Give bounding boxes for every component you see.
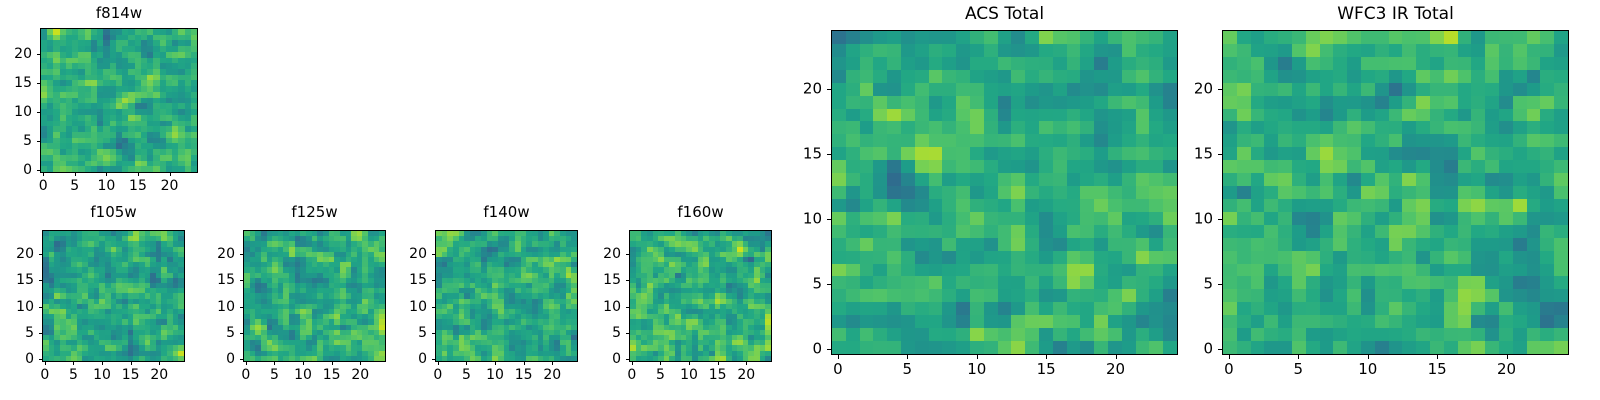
heatmap-cell [1278,134,1292,147]
heatmap-cell [1540,341,1554,354]
heatmap-cell [1513,31,1527,44]
heatmap-cell [1416,147,1430,160]
heatmap-cell [1458,96,1472,109]
heatmap-cell [1347,83,1361,96]
heatmap-cell [1430,109,1444,122]
heatmap-cell [1527,276,1541,289]
ytick-mark [1218,349,1222,350]
heatmap-cell [1306,251,1320,264]
heatmap-cell [1416,186,1430,199]
heatmap-cell [1416,121,1430,134]
xtick-label: 10 [1358,362,1377,377]
heatmap-cell [1278,276,1292,289]
heatmap-cell [1389,186,1403,199]
heatmap-cell [1416,160,1430,173]
heatmap-cell [1540,57,1554,70]
heatmap-cell [1458,44,1472,57]
heatmap-cell [1389,31,1403,44]
heatmap-cell [1527,341,1541,354]
heatmap-cell [1527,31,1541,44]
heatmap-cell [1264,315,1278,328]
heatmap-cell [1416,57,1430,70]
heatmap-cell [1444,147,1458,160]
heatmap-cell [1278,109,1292,122]
heatmap-cell [1320,238,1334,251]
heatmap-cell [1513,134,1527,147]
heatmap-cell [1471,238,1485,251]
heatmap-cell [1264,302,1278,315]
heatmap-cell [1485,44,1499,57]
heatmap-cell [1361,160,1375,173]
heatmap-cell [1471,264,1485,277]
heatmap-cell [1264,70,1278,83]
heatmap-cell [1471,212,1485,225]
heatmap-cell [1361,96,1375,109]
heatmap-cell [1389,212,1403,225]
heatmap-cell [1513,96,1527,109]
heatmap-cell [1320,173,1334,186]
heatmap-cell [1540,212,1554,225]
heatmap-cell [1471,160,1485,173]
heatmap-cell [1361,276,1375,289]
heatmap-cell [1361,199,1375,212]
heatmap-cell [1540,121,1554,134]
heatmap-cell [1347,276,1361,289]
heatmap-cell [1375,44,1389,57]
heatmap-cell [1499,328,1513,341]
heatmap-cell [1333,289,1347,302]
heatmap-cell [1278,264,1292,277]
heatmap-cell [1389,96,1403,109]
heatmap-cell [1223,109,1237,122]
heatmap-cell [1513,251,1527,264]
heatmap-cell [1375,70,1389,83]
heatmap-cell [1389,328,1403,341]
heatmap-cell [1471,57,1485,70]
heatmap-cell [1333,302,1347,315]
heatmap-cell [1237,225,1251,238]
heatmap-cell [1375,199,1389,212]
heatmap-cell [1347,186,1361,199]
heatmap-cell [1554,31,1568,44]
heatmap-cell [1292,289,1306,302]
heatmap-cell [1513,264,1527,277]
heatmap-cell [1430,289,1444,302]
heatmap-cell [1320,225,1334,238]
heatmap-cell [1416,225,1430,238]
heatmap-cell [1402,341,1416,354]
heatmap-cell [1430,57,1444,70]
heatmap-cell [1251,173,1265,186]
heatmap-cell [1527,121,1541,134]
heatmap-cell [1237,264,1251,277]
heatmap-cell [1554,160,1568,173]
heatmap-cell [1237,302,1251,315]
ytick-label: 0 [1179,341,1213,356]
heatmap-cell [1499,315,1513,328]
heatmap-cell [1540,44,1554,57]
heatmap-cell [1306,173,1320,186]
heatmap-cell [1402,173,1416,186]
heatmap-cell [1278,83,1292,96]
heatmap-cell [1416,44,1430,57]
heatmap-cell [1485,302,1499,315]
heatmap-cell [1499,109,1513,122]
xtick-label: 5 [1294,362,1304,377]
heatmap-cell [1306,134,1320,147]
heatmap-cell [1458,328,1472,341]
heatmap-cell [1333,186,1347,199]
heatmap-cell [1499,251,1513,264]
heatmap-cell [1251,199,1265,212]
heatmap-cell [1471,341,1485,354]
heatmap-cell [1292,121,1306,134]
heatmap-cell [1251,83,1265,96]
heatmap-cell [1237,173,1251,186]
heatmap-cell [1540,315,1554,328]
heatmap-cell [1471,289,1485,302]
heatmap-cell [1278,315,1292,328]
heatmap-cell [1402,44,1416,57]
heatmap-cell [1416,251,1430,264]
heatmap-cell [1306,289,1320,302]
heatmap-cell [1264,212,1278,225]
xtick-mark [1229,355,1230,359]
heatmap-cell [1499,31,1513,44]
heatmap-cell [1416,70,1430,83]
heatmap-cell [1471,109,1485,122]
heatmap-cell [1458,160,1472,173]
heatmap-cell [1402,276,1416,289]
heatmap-cell [1416,199,1430,212]
heatmap-cell [1430,276,1444,289]
heatmap-cell [1444,251,1458,264]
heatmap-cell [1333,109,1347,122]
heatmap-cell [1251,341,1265,354]
heatmap-cell [1375,134,1389,147]
heatmap-cell [1540,160,1554,173]
heatmap-cell [1237,96,1251,109]
heatmap-cell [1444,212,1458,225]
heatmap-cell [1499,302,1513,315]
panel-title-wfc3-ir-total: WFC3 IR Total [1222,6,1569,23]
heatmap-cell [1251,315,1265,328]
heatmap-cell [1237,186,1251,199]
heatmap-cell [1320,160,1334,173]
heatmap-cell [1278,238,1292,251]
heatmap-cell [1306,70,1320,83]
heatmap-cell [1499,264,1513,277]
heatmap-cell [1223,328,1237,341]
heatmap-cell [1513,173,1527,186]
heatmap-cell [1499,186,1513,199]
heatmap-cell [1485,83,1499,96]
heatmap-cell [1389,225,1403,238]
heatmap-cell [1347,315,1361,328]
heatmap-cell [1402,186,1416,199]
heatmap-cell [1527,109,1541,122]
heatmap-cell [1347,341,1361,354]
heatmap-cell [1347,328,1361,341]
heatmap-cell [1430,121,1444,134]
heatmap-cell [1389,109,1403,122]
heatmap-cell [1251,328,1265,341]
heatmap-cell [1430,96,1444,109]
heatmap-cell [1320,315,1334,328]
heatmap-cell [1389,199,1403,212]
heatmap-cell [1389,134,1403,147]
heatmap-cell [1375,264,1389,277]
heatmap-cell [1333,83,1347,96]
heatmap-cell [1264,134,1278,147]
heatmap-cell [1223,31,1237,44]
heatmap-cell [1389,341,1403,354]
heatmap-cell [1430,83,1444,96]
heatmap-cell [1223,70,1237,83]
heatmap-cell [1554,44,1568,57]
heatmap-cell [1347,96,1361,109]
heatmap-cell [1223,121,1237,134]
heatmap-cell [1375,302,1389,315]
heatmap-cell [1430,212,1444,225]
heatmap-cell [1375,186,1389,199]
heatmap-cell [1347,251,1361,264]
xtick-mark [1437,355,1438,359]
heatmap-cell [1499,147,1513,160]
heatmap-cell [1278,289,1292,302]
heatmap-cell [1471,199,1485,212]
heatmap-cell [1554,341,1568,354]
heatmap-cell [1513,302,1527,315]
heatmap-cell [1361,289,1375,302]
heatmap-cell [1278,302,1292,315]
heatmap-cell [1223,160,1237,173]
heatmap-cell [1237,147,1251,160]
heatmap-cell [1499,57,1513,70]
heatmap-cell [1292,302,1306,315]
heatmap-cell [1540,134,1554,147]
heatmap-cell [1444,289,1458,302]
heatmap-cell [1471,276,1485,289]
heatmap-cell [1554,173,1568,186]
heatmap-cell [1278,225,1292,238]
heatmap-cell [1292,315,1306,328]
heatmap-cell [1513,238,1527,251]
heatmap-cell [1375,328,1389,341]
heatmap-cell [1416,341,1430,354]
heatmap-cell [1527,302,1541,315]
heatmap-cell [1540,83,1554,96]
heatmap-cell [1513,199,1527,212]
heatmap-cell [1485,341,1499,354]
heatmap-cell [1292,134,1306,147]
heatmap-cell [1264,121,1278,134]
heatmap-cell [1402,83,1416,96]
heatmap-cell [1375,96,1389,109]
heatmap-cell [1375,225,1389,238]
heatmap-cell [1471,225,1485,238]
heatmap-cell [1237,238,1251,251]
heatmap-cell [1278,70,1292,83]
heatmap-wfc3-ir-total [1223,31,1568,354]
heatmap-cell [1513,57,1527,70]
heatmap-cell [1347,57,1361,70]
heatmap-cell [1444,264,1458,277]
heatmap-cell [1361,238,1375,251]
heatmap-cell [1375,121,1389,134]
heatmap-cell [1320,44,1334,57]
heatmap-cell [1306,276,1320,289]
heatmap-cell [1513,109,1527,122]
heatmap-cell [1444,121,1458,134]
heatmap-cell [1306,212,1320,225]
heatmap-cell [1333,264,1347,277]
heatmap-cell [1402,57,1416,70]
heatmap-cell [1361,328,1375,341]
heatmap-cell [1554,199,1568,212]
heatmap-cell [1389,44,1403,57]
heatmap-cell [1306,199,1320,212]
heatmap-cell [1264,109,1278,122]
heatmap-cell [1485,264,1499,277]
heatmap-cell [1471,251,1485,264]
heatmap-cell [1485,96,1499,109]
heatmap-cell [1458,276,1472,289]
heatmap-cell [1554,264,1568,277]
heatmap-cell [1347,264,1361,277]
heatmap-cell [1264,44,1278,57]
heatmap-cell [1499,121,1513,134]
heatmap-cell [1306,315,1320,328]
heatmap-cell [1485,199,1499,212]
heatmap-cell [1292,186,1306,199]
heatmap-cell [1513,83,1527,96]
heatmap-cell [1527,315,1541,328]
heatmap-cell [1444,341,1458,354]
heatmap-cell [1540,225,1554,238]
heatmap-cell [1416,276,1430,289]
heatmap-cell [1237,199,1251,212]
heatmap-cell [1251,31,1265,44]
heatmap-cell [1471,173,1485,186]
heatmap-cell [1444,96,1458,109]
heatmap-cell [1375,212,1389,225]
heatmap-cell [1292,251,1306,264]
heatmap-cell [1458,225,1472,238]
heatmap-cell [1458,238,1472,251]
heatmap-cell [1527,238,1541,251]
heatmap-cell [1320,186,1334,199]
heatmap-cell [1389,147,1403,160]
heatmap-cell [1320,121,1334,134]
heatmap-cell [1320,199,1334,212]
heatmap-cell [1444,225,1458,238]
axes-wfc3-ir-total [1222,30,1569,355]
heatmap-cell [1499,289,1513,302]
heatmap-cell [1320,276,1334,289]
heatmap-cell [1320,134,1334,147]
heatmap-cell [1237,31,1251,44]
heatmap-cell [1499,70,1513,83]
heatmap-cell [1471,147,1485,160]
heatmap-cell [1278,147,1292,160]
heatmap-cell [1527,44,1541,57]
heatmap-cell [1444,186,1458,199]
heatmap-cell [1264,341,1278,354]
heatmap-cell [1347,173,1361,186]
heatmap-cell [1430,173,1444,186]
heatmap-cell [1471,70,1485,83]
heatmap-cell [1292,264,1306,277]
heatmap-cell [1375,251,1389,264]
heatmap-cell [1375,160,1389,173]
heatmap-cell [1389,315,1403,328]
heatmap-cell [1540,328,1554,341]
heatmap-cell [1499,160,1513,173]
heatmap-cell [1554,109,1568,122]
heatmap-cell [1458,199,1472,212]
heatmap-cell [1292,44,1306,57]
heatmap-cell [1347,44,1361,57]
heatmap-cell [1333,147,1347,160]
heatmap-cell [1485,186,1499,199]
heatmap-cell [1361,341,1375,354]
heatmap-cell [1347,134,1361,147]
heatmap-cell [1554,147,1568,160]
heatmap-cell [1430,160,1444,173]
heatmap-cell [1306,238,1320,251]
heatmap-cell [1485,109,1499,122]
heatmap-cell [1361,83,1375,96]
heatmap-cell [1430,302,1444,315]
heatmap-cell [1485,276,1499,289]
heatmap-cell [1361,264,1375,277]
heatmap-cell [1292,328,1306,341]
heatmap-cell [1251,289,1265,302]
heatmap-cell [1527,147,1541,160]
heatmap-cell [1333,96,1347,109]
heatmap-cell [1471,96,1485,109]
heatmap-cell [1264,173,1278,186]
heatmap-cell [1264,31,1278,44]
heatmap-cell [1237,44,1251,57]
heatmap-cell [1264,160,1278,173]
heatmap-cell [1375,57,1389,70]
heatmap-cell [1513,315,1527,328]
heatmap-cell [1402,251,1416,264]
heatmap-cell [1402,238,1416,251]
heatmap-cell [1513,121,1527,134]
ytick-label: 20 [1179,81,1213,96]
heatmap-cell [1333,212,1347,225]
heatmap-cell [1237,57,1251,70]
heatmap-cell [1333,199,1347,212]
heatmap-cell [1223,238,1237,251]
ytick-mark [1218,219,1222,220]
heatmap-cell [1306,57,1320,70]
heatmap-cell [1292,109,1306,122]
heatmap-cell [1402,302,1416,315]
heatmap-cell [1320,328,1334,341]
heatmap-cell [1361,302,1375,315]
heatmap-cell [1444,160,1458,173]
heatmap-cell [1471,44,1485,57]
heatmap-cell [1471,121,1485,134]
heatmap-cell [1320,147,1334,160]
heatmap-cell [1361,109,1375,122]
heatmap-cell [1223,134,1237,147]
heatmap-cell [1540,31,1554,44]
